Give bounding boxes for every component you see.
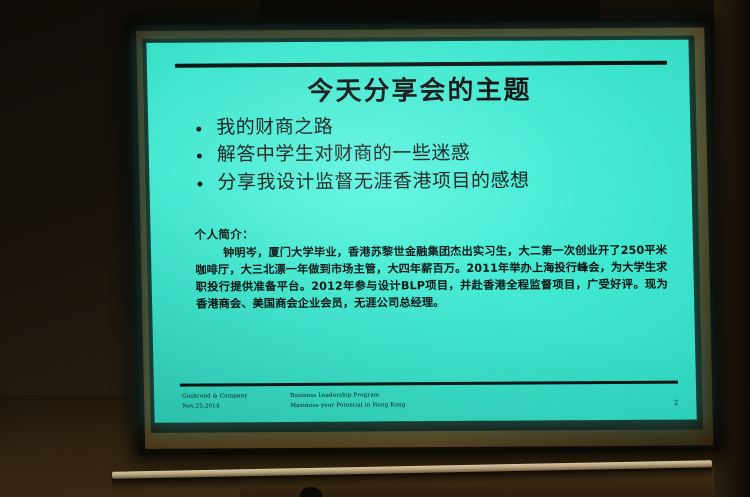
projector-room-scene: 今天分享会的主题 我的财商之路 解答中学生对财商的一些迷惑 分享我设计监督无涯香… xyxy=(0,0,750,497)
bullet-item-2: 解答中学生对财商的一些迷惑 xyxy=(195,139,672,169)
bullet-item-3: 分享我设计监督无涯香港项目的感想 xyxy=(195,166,672,196)
bullet-item-1: 我的财商之路 xyxy=(194,112,671,142)
footer-company-name: Goshrond & Company xyxy=(182,392,290,402)
slide-content: 今天分享会的主题 我的财商之路 解答中学生对财商的一些迷惑 分享我设计监督无涯香… xyxy=(146,40,696,423)
footer-company-block: Goshrond & Company Nov,25,2014 xyxy=(182,392,290,412)
room-panel-right xyxy=(714,0,750,497)
title-divider-rule xyxy=(175,61,667,68)
projection-screen-frame: 今天分享会的主题 我的财商之路 解答中学生对财商的一些迷惑 分享我设计监督无涯香… xyxy=(130,21,719,454)
bio-block: 个人简介： 钟明岑，厦门大学毕业，香港苏黎世金融集团杰出实习生，大二第一次创业开… xyxy=(172,224,674,313)
slide-title: 今天分享会的主题 xyxy=(169,69,670,109)
slide-footer: Goshrond & Company Nov,25,2014 Business … xyxy=(182,390,680,413)
footer-program-block: Business Leadership Program Maximize you… xyxy=(290,390,674,412)
foreground-silhouette xyxy=(300,487,322,497)
slide-bullet-list: 我的财商之路 解答中学生对财商的一些迷惑 分享我设计监督无涯香港项目的感想 xyxy=(170,112,672,197)
projected-slide: 今天分享会的主题 我的财商之路 解答中学生对财商的一些迷惑 分享我设计监督无涯香… xyxy=(146,40,696,423)
footer-date: Nov,25,2014 xyxy=(182,402,290,412)
footer-page-number: 2 xyxy=(674,397,681,409)
bio-paragraph: 钟明岑，厦门大学毕业，香港苏黎世金融集团杰出实习生，大二第一次创业开了250平米… xyxy=(195,242,669,313)
bio-heading: 个人简介： xyxy=(194,224,666,243)
